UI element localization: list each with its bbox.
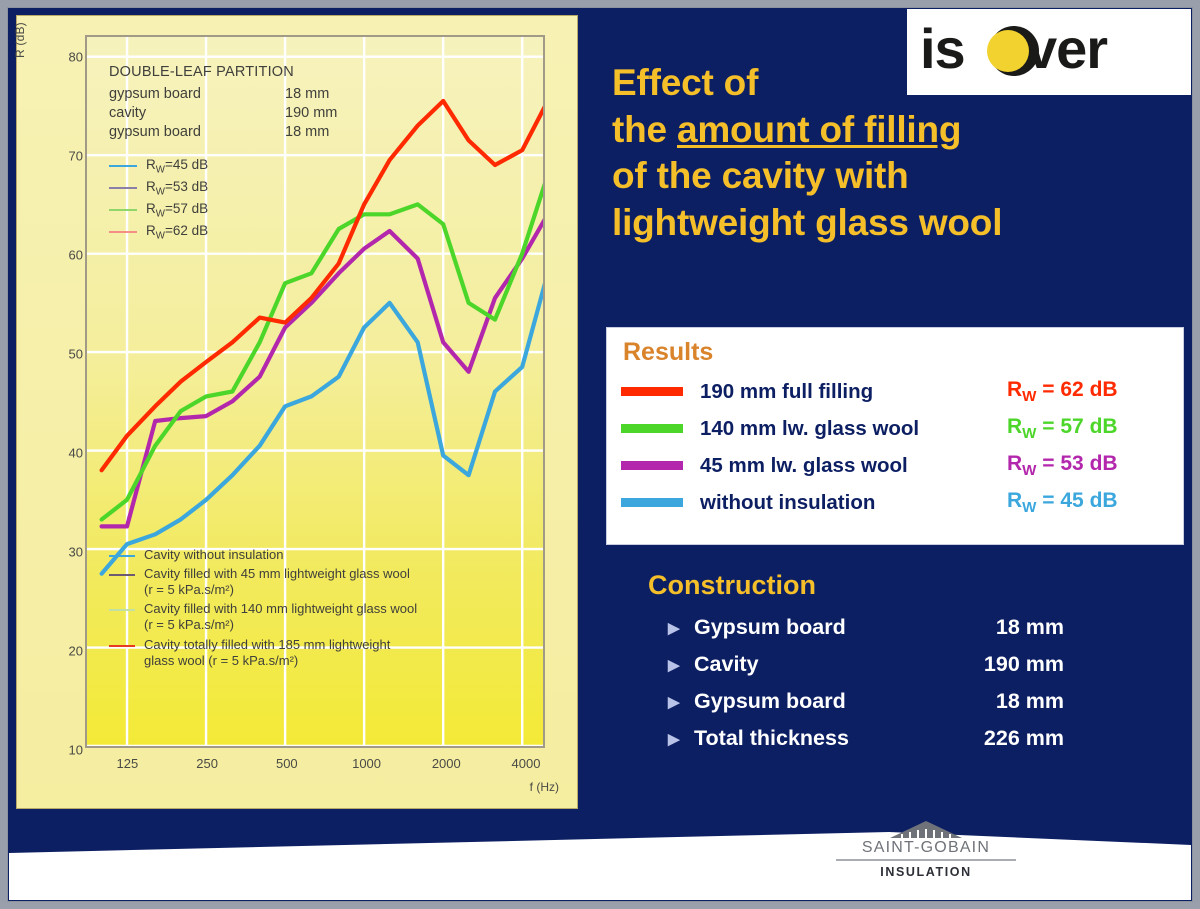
legend-label: Cavity totally filled with 185 mm lightw…	[144, 637, 390, 669]
chart-y-tick: 20	[37, 643, 83, 658]
legend-label-line: glass wool (r = 5 kPa.s/m²)	[144, 653, 390, 669]
results-color-swatch	[621, 498, 683, 507]
chart-inner-legend: RW=45 dBRW=53 dBRW=57 dBRW=62 dB	[109, 155, 208, 243]
results-rows: 190 mm full fillingRW = 62 dB140 mm lw. …	[621, 373, 1169, 521]
chart-x-axis-label: f (Hz)	[530, 780, 559, 794]
legend-color-swatch	[109, 187, 137, 189]
legend-color-swatch	[109, 209, 137, 211]
results-row: 45 mm lw. glass woolRW = 53 dB	[621, 447, 1169, 484]
title-line-2: the amount of filling	[612, 107, 1182, 154]
chart-plot-area: DOUBLE-LEAF PARTITION gypsum board18 mmc…	[85, 35, 545, 748]
chart-y-tick: 10	[37, 743, 83, 758]
results-value: RW = 57 dB	[1007, 415, 1169, 442]
saint-gobain-name: SAINT-GOBAIN	[836, 839, 1016, 857]
chart-series-line	[102, 273, 543, 573]
chart-x-ticks: 125250500100020004000	[85, 756, 545, 776]
chart-x-tick: 125	[117, 756, 139, 771]
results-label: 45 mm lw. glass wool	[700, 454, 1007, 478]
legend-label: Cavity without insulation	[144, 547, 283, 563]
chart-series-line	[102, 214, 543, 526]
annotation-row-name: cavity	[109, 104, 146, 123]
title-line-3: of the cavity with	[612, 153, 1182, 200]
chart-x-tick: 4000	[512, 756, 541, 771]
construction-row: ▶Cavity190 mm	[620, 646, 1180, 683]
legend-label: RW=45 dB	[146, 157, 208, 176]
title-line-1: Effect of	[612, 60, 1182, 107]
results-color-swatch	[621, 461, 683, 470]
chart-inner-legend-item: RW=45 dB	[109, 155, 208, 177]
legend-color-swatch	[109, 165, 137, 167]
annotation-row: cavity190 mm	[109, 104, 371, 123]
legend-label: RW=62 dB	[146, 223, 208, 242]
annotation-title: DOUBLE-LEAF PARTITION	[109, 63, 371, 82]
results-box: Results 190 mm full fillingRW = 62 dB140…	[606, 327, 1184, 545]
results-label: without insulation	[700, 491, 1007, 515]
title-line-2-pre: the	[612, 109, 677, 150]
results-row: 140 mm lw. glass woolRW = 57 dB	[621, 410, 1169, 447]
chart-y-tick: 50	[37, 346, 83, 361]
chart-bottom-legend-item: Cavity without insulation	[109, 547, 529, 563]
chart-bottom-legend-item: Cavity filled with 45 mm lightweight gla…	[109, 566, 529, 598]
annotation-rows: gypsum board18 mmcavity190 mmgypsum boar…	[109, 85, 371, 142]
saint-gobain-rule	[836, 859, 1016, 861]
legend-color-swatch	[109, 645, 135, 647]
legend-label-line: Cavity filled with 140 mm lightweight gl…	[144, 601, 417, 617]
chart-y-tick: 30	[37, 544, 83, 559]
saint-gobain-logo: SAINT-GOBAIN INSULATION	[836, 819, 1016, 879]
annotation-row: gypsum board18 mm	[109, 123, 371, 142]
results-label: 190 mm full filling	[700, 380, 1007, 404]
chart-x-tick: 1000	[352, 756, 381, 771]
title-line-2-emphasis: amount of filling	[677, 109, 961, 150]
saint-gobain-roof-icon	[880, 819, 972, 841]
legend-color-swatch	[109, 574, 135, 576]
bullet-arrow-icon: ▶	[620, 656, 694, 674]
chart-panel: R (dB) 1020304050607080 DOUBLE-LEAF PART…	[16, 15, 578, 809]
legend-label: RW=57 dB	[146, 201, 208, 220]
construction-row: ▶Gypsum board18 mm	[620, 683, 1180, 720]
legend-label-line: Cavity totally filled with 185 mm lightw…	[144, 637, 390, 653]
results-value: RW = 45 dB	[1007, 489, 1169, 516]
results-row: 190 mm full fillingRW = 62 dB	[621, 373, 1169, 410]
annotation-row-value: 18 mm	[285, 123, 371, 142]
chart-inner-legend-item: RW=62 dB	[109, 221, 208, 243]
legend-label-line: Cavity without insulation	[144, 547, 283, 563]
results-value: RW = 53 dB	[1007, 452, 1169, 479]
results-row: without insulationRW = 45 dB	[621, 484, 1169, 521]
chart-bottom-legend-item: Cavity totally filled with 185 mm lightw…	[109, 637, 529, 669]
chart-y-tick: 70	[37, 148, 83, 163]
legend-label-line: (r = 5 kPa.s/m²)	[144, 582, 410, 598]
results-label: 140 mm lw. glass wool	[700, 417, 1007, 441]
construction-row-value: 190 mm	[944, 652, 1064, 677]
construction-row-value: 18 mm	[944, 689, 1064, 714]
chart-x-tick: 500	[276, 756, 298, 771]
annotation-row-value: 18 mm	[285, 85, 371, 104]
chart-x-tick: 250	[196, 756, 218, 771]
results-color-swatch	[621, 424, 683, 433]
chart-bottom-legend: Cavity without insulationCavity filled w…	[109, 547, 529, 672]
chart-y-tick: 60	[37, 247, 83, 262]
slide-root: R (dB) 1020304050607080 DOUBLE-LEAF PART…	[0, 0, 1200, 909]
chart-inner-legend-item: RW=53 dB	[109, 177, 208, 199]
annotation-row-name: gypsum board	[109, 123, 201, 142]
chart-x-tick: 2000	[432, 756, 461, 771]
results-color-swatch	[621, 387, 683, 396]
construction-row-name: Gypsum board	[694, 689, 944, 714]
construction-row-name: Gypsum board	[694, 615, 944, 640]
annotation-row-name: gypsum board	[109, 85, 201, 104]
construction-row-value: 226 mm	[944, 726, 1064, 751]
chart-y-tick: 80	[37, 49, 83, 64]
construction-row-value: 18 mm	[944, 615, 1064, 640]
construction-row-name: Total thickness	[694, 726, 944, 751]
legend-label: RW=53 dB	[146, 179, 208, 198]
legend-label: Cavity filled with 45 mm lightweight gla…	[144, 566, 410, 598]
annotation-row-value: 190 mm	[285, 104, 371, 123]
construction-section: Construction ▶Gypsum board18 mm▶Cavity19…	[620, 570, 1180, 757]
legend-color-swatch	[109, 555, 135, 557]
bullet-arrow-icon: ▶	[620, 730, 694, 748]
bullet-arrow-icon: ▶	[620, 619, 694, 637]
legend-label: Cavity filled with 140 mm lightweight gl…	[144, 601, 417, 633]
chart-y-axis-label: R (dB)	[13, 22, 27, 58]
title-line-4: lightweight glass wool	[612, 200, 1182, 247]
legend-label-line: (r = 5 kPa.s/m²)	[144, 617, 417, 633]
construction-row: ▶Total thickness226 mm	[620, 720, 1180, 757]
annotation-row: gypsum board18 mm	[109, 85, 371, 104]
legend-color-swatch	[109, 609, 135, 611]
page-title: Effect of the amount of filling of the c…	[612, 60, 1182, 246]
results-value: RW = 62 dB	[1007, 378, 1169, 405]
construction-heading: Construction	[648, 570, 1180, 601]
saint-gobain-division: INSULATION	[836, 865, 1016, 879]
bullet-arrow-icon: ▶	[620, 693, 694, 711]
chart-y-tick: 40	[37, 445, 83, 460]
chart-annotation-partition: DOUBLE-LEAF PARTITION gypsum board18 mmc…	[109, 63, 371, 143]
legend-label-line: Cavity filled with 45 mm lightweight gla…	[144, 566, 410, 582]
chart-y-ticks: 1020304050607080	[27, 35, 83, 748]
legend-color-swatch	[109, 231, 137, 233]
construction-row-name: Cavity	[694, 652, 944, 677]
results-heading: Results	[623, 338, 1169, 367]
chart-inner-legend-item: RW=57 dB	[109, 199, 208, 221]
chart-bottom-legend-item: Cavity filled with 140 mm lightweight gl…	[109, 601, 529, 633]
construction-rows: ▶Gypsum board18 mm▶Cavity190 mm▶Gypsum b…	[620, 609, 1180, 757]
construction-row: ▶Gypsum board18 mm	[620, 609, 1180, 646]
